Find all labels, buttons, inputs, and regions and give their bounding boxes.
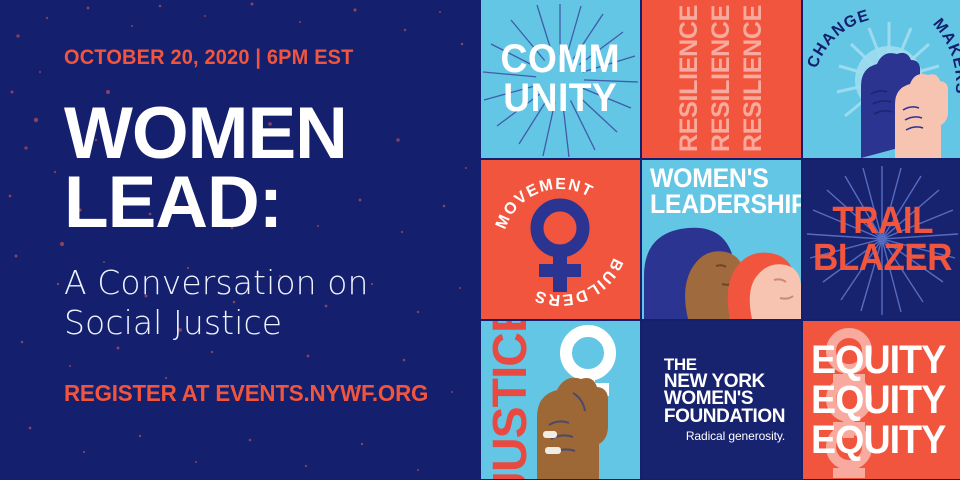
logo-line-foundation: FOUNDATION bbox=[664, 408, 785, 425]
womens-leadership-tile: WOMEN'S LEADERSHIP bbox=[642, 160, 801, 319]
page-title: WOMEN LEAD: bbox=[64, 100, 478, 237]
equity-tile: EQUITY EQUITY EQUITY bbox=[803, 321, 960, 479]
resilience-word-2: RESILIENCE bbox=[709, 5, 734, 152]
left-text-panel: OCTOBER 20, 2020 | 6PM EST WOMEN LEAD: A… bbox=[0, 0, 478, 480]
svg-text:BUILDERS: BUILDERS bbox=[532, 256, 626, 309]
trail-line-2: BLAZER bbox=[813, 240, 952, 276]
resilience-columns: RESILIENCE RESILIENCE RESILIENCE bbox=[677, 0, 766, 158]
equity-label: EQUITY EQUITY EQUITY bbox=[803, 321, 960, 479]
subtitle: A Conversation on Social Justice bbox=[64, 263, 478, 344]
left-content-stack: OCTOBER 20, 2020 | 6PM EST WOMEN LEAD: A… bbox=[0, 0, 478, 407]
equity-word-1: EQUITY bbox=[811, 340, 945, 380]
resilience-tile: RESILIENCE RESILIENCE RESILIENCE bbox=[642, 0, 801, 158]
register-cta[interactable]: REGISTER AT EVENTS.NYWF.ORG bbox=[64, 380, 466, 407]
logo-line-womens: WOMEN'S bbox=[664, 390, 785, 407]
community-tile: COMM UNITY bbox=[481, 0, 640, 158]
change-makers-tile: CHANGE MAKERS bbox=[803, 0, 960, 158]
builders-arc-text: BUILDERS bbox=[532, 256, 626, 309]
nywf-logo: THE NEW YORK WOMEN'S FOUNDATION Radical … bbox=[658, 357, 785, 443]
leadership-line-2: LEADERSHIP bbox=[650, 192, 801, 218]
subtitle-line-2: Social Justice bbox=[64, 303, 478, 343]
equity-word-2: EQUITY bbox=[811, 380, 945, 420]
venus-symbol-icon: MOVEMENT BUILDERS bbox=[481, 160, 640, 319]
resilience-word-3: RESILIENCE bbox=[741, 5, 766, 152]
trail-blazer-tile: TRAIL BLAZER bbox=[803, 160, 960, 319]
resilience-word-1: RESILIENCE bbox=[677, 5, 702, 152]
justice-word: JUSTICE bbox=[483, 321, 538, 479]
headline-line-2: LEAD: bbox=[64, 169, 478, 238]
event-banner: OCTOBER 20, 2020 | 6PM EST WOMEN LEAD: A… bbox=[0, 0, 960, 480]
theme-tile-grid: COMM UNITY RESILIENCE RESILIENCE RESILIE… bbox=[478, 0, 960, 480]
community-line-1: COMM bbox=[501, 40, 621, 79]
trail-blazer-label: TRAIL BLAZER bbox=[803, 160, 960, 319]
trail-line-1: TRAIL bbox=[832, 203, 933, 239]
community-label: COMM UNITY bbox=[481, 0, 640, 158]
logo-tagline: Radical generosity. bbox=[664, 429, 785, 443]
subtitle-line-1: A Conversation on bbox=[64, 263, 478, 303]
justice-tile: JUSTICE bbox=[481, 321, 640, 479]
movement-builders-tile: MOVEMENT BUILDERS bbox=[481, 160, 640, 319]
community-line-2: UNITY bbox=[504, 79, 618, 118]
event-date-time: OCTOBER 20, 2020 | 6PM EST bbox=[64, 46, 457, 70]
two-raised-fists-icon: CHANGE MAKERS bbox=[803, 0, 960, 158]
womens-leadership-label: WOMEN'S LEADERSHIP bbox=[650, 166, 801, 217]
foundation-logo-tile: THE NEW YORK WOMEN'S FOUNDATION Radical … bbox=[642, 321, 801, 479]
equity-word-3: EQUITY bbox=[811, 420, 945, 460]
justice-label: JUSTICE bbox=[483, 321, 538, 479]
